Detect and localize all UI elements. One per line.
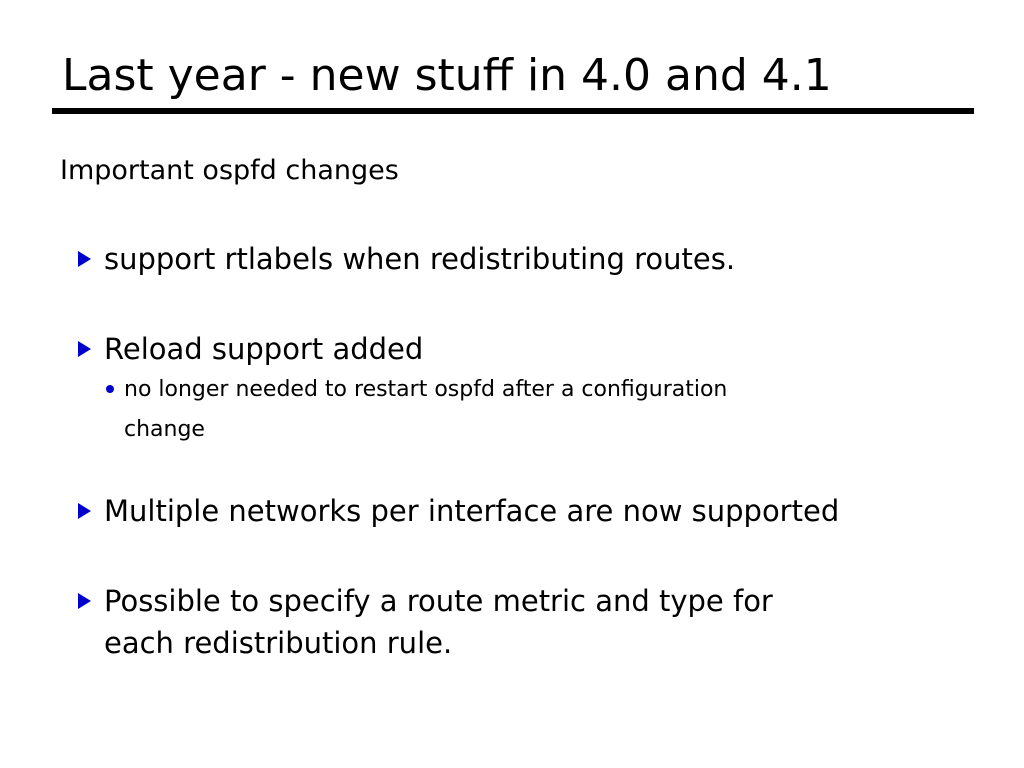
sub-bullet-item-1-line1: no longer needed to restart ospfd after … bbox=[124, 370, 1024, 410]
bullet-item-3-label: Multiple networks per interface are now … bbox=[104, 494, 839, 528]
sub-bullet-item-1-line2: change bbox=[124, 410, 1024, 450]
triangle-right-icon bbox=[78, 341, 91, 357]
bullet-item-3: Multiple networks per interface are now … bbox=[78, 490, 1024, 532]
title-divider bbox=[52, 108, 974, 114]
bullet-item-4: Possible to specify a route metric and t… bbox=[78, 580, 1024, 664]
round-dot-icon bbox=[106, 385, 114, 393]
spacer bbox=[0, 190, 1024, 238]
triangle-right-icon bbox=[78, 503, 91, 519]
bullet-item-4-line1: Possible to specify a route metric and t… bbox=[104, 580, 1024, 622]
bullet-item-2-label: Reload support added bbox=[104, 332, 423, 366]
bullet-item-1-label: support rtlabels when redistributing rou… bbox=[104, 242, 735, 276]
spacer bbox=[0, 280, 1024, 328]
slide: Last year - new stuff in 4.0 and 4.1 Imp… bbox=[0, 0, 1024, 768]
bullet-item-1: support rtlabels when redistributing rou… bbox=[78, 238, 1024, 280]
bullet-item-2: Reload support added bbox=[78, 328, 1024, 370]
body-heading: Important ospfd changes bbox=[60, 152, 1024, 190]
page-title: Last year - new stuff in 4.0 and 4.1 bbox=[52, 48, 974, 104]
spacer bbox=[0, 450, 1024, 490]
bullet-item-4-line2: each redistribution rule. bbox=[104, 622, 1024, 664]
sub-bullet-item-1: no longer needed to restart ospfd after … bbox=[106, 370, 1024, 450]
title-block: Last year - new stuff in 4.0 and 4.1 bbox=[52, 48, 974, 114]
triangle-right-icon bbox=[78, 593, 91, 609]
slide-body: Important ospfd changes support rtlabels… bbox=[0, 152, 1024, 664]
triangle-right-icon bbox=[78, 251, 91, 267]
spacer bbox=[0, 532, 1024, 580]
